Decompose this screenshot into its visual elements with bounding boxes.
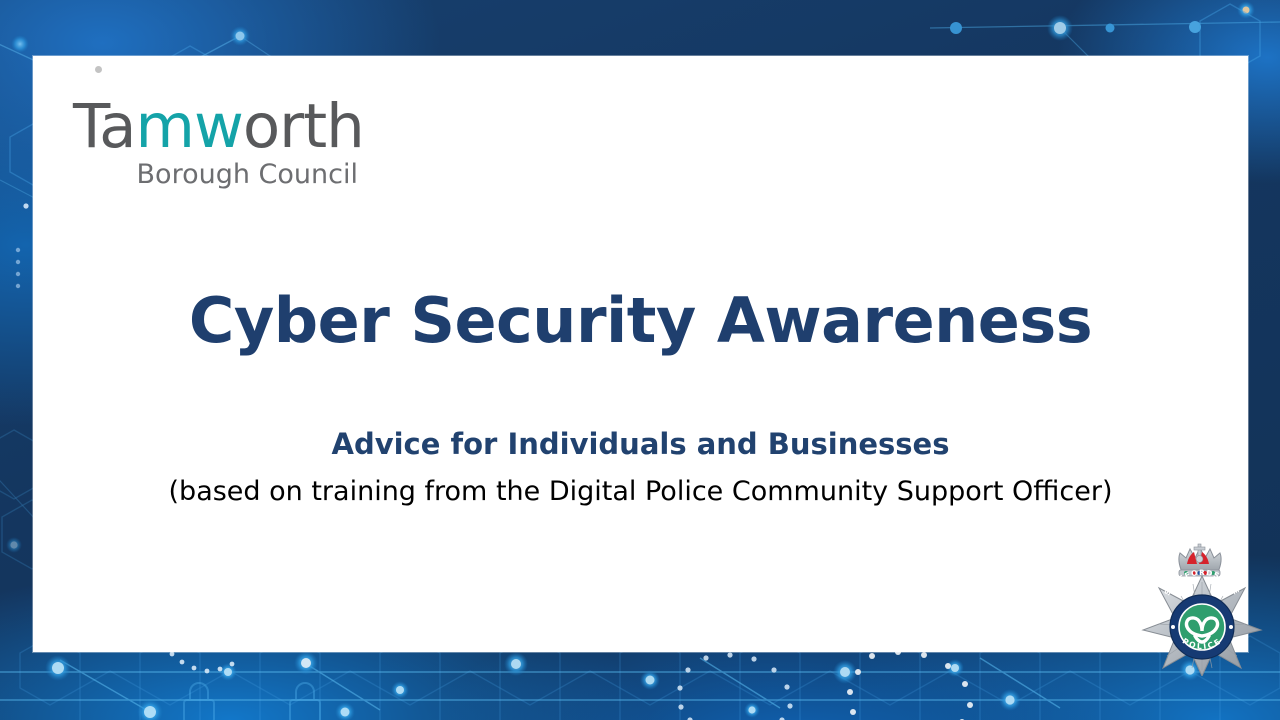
slide-title: Cyber Security Awareness [33,288,1248,355]
staffordshire-police-badge-icon: STAFFORDSHIRE POLICE [1137,526,1267,676]
logo-word-part-teal: mw [136,91,243,162]
logo-word-part-2: orth [243,91,364,162]
slide-content-card: Tamworth Borough Council Cyber Security … [33,56,1248,652]
tamworth-borough-council-logo: Tamworth Borough Council [73,96,373,188]
slide-subtitle: Advice for Individuals and Businesses [33,355,1248,462]
logo-word-part-1: Ta [73,91,136,162]
title-slide: Tamworth Borough Council Cyber Security … [0,0,1280,720]
logo-subline: Borough Council [73,161,358,188]
placeholder-speck-icon [95,66,102,73]
slide-note: (based on training from the Digital Poli… [33,462,1248,508]
title-text-block: Cyber Security Awareness Advice for Indi… [33,288,1248,508]
logo-wordmark: Tamworth [73,96,373,157]
